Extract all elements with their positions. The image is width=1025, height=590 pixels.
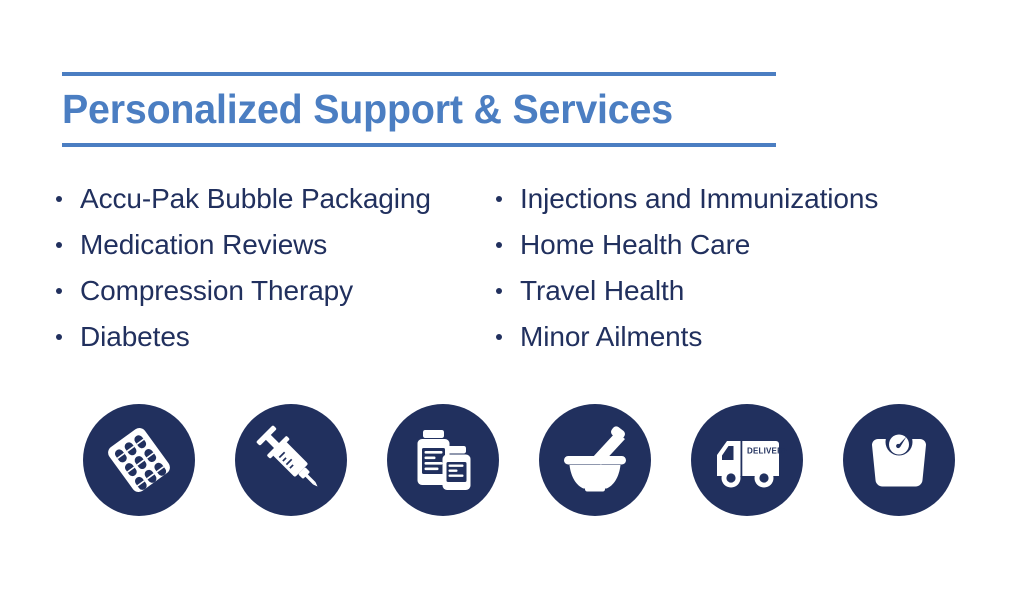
mortar-pestle-icon [539, 404, 651, 516]
list-item-label: Accu-Pak Bubble Packaging [80, 183, 431, 214]
list-item: Compression Therapy [53, 268, 493, 314]
list-item: Medication Reviews [53, 222, 493, 268]
bullet-icon [56, 334, 62, 340]
bullet-icon [496, 288, 502, 294]
bullet-icon [496, 242, 502, 248]
services-right-column: Injections and Immunizations Home Health… [493, 176, 1025, 360]
weight-scale-icon [843, 404, 955, 516]
delivery-van-icon: DELIVERY [691, 404, 803, 516]
services-list-left: Accu-Pak Bubble Packaging Medication Rev… [53, 176, 493, 360]
pill-bottles-icon [387, 404, 499, 516]
list-item: Minor Ailments [493, 314, 1025, 360]
bullet-icon [496, 196, 502, 202]
page-title: Personalized Support & Services [62, 76, 747, 143]
list-item: Diabetes [53, 314, 493, 360]
title-rule-bottom [62, 143, 776, 147]
services-lists: Accu-Pak Bubble Packaging Medication Rev… [0, 176, 1025, 360]
services-left-column: Accu-Pak Bubble Packaging Medication Rev… [0, 176, 493, 360]
list-item-label: Travel Health [520, 275, 684, 306]
syringe-icon [235, 404, 347, 516]
list-item: Home Health Care [493, 222, 1025, 268]
list-item-label: Medication Reviews [80, 229, 327, 260]
page-title-block: Personalized Support & Services [62, 72, 776, 147]
list-item-label: Minor Ailments [520, 321, 702, 352]
list-item-label: Home Health Care [520, 229, 750, 260]
list-item-label: Injections and Immunizations [520, 183, 878, 214]
list-item-label: Diabetes [80, 321, 190, 352]
bullet-icon [56, 288, 62, 294]
list-item: Accu-Pak Bubble Packaging [53, 176, 493, 222]
slide-canvas: Personalized Support & Services Accu-Pak… [0, 0, 1025, 590]
bullet-icon [56, 242, 62, 248]
bullet-icon [496, 334, 502, 340]
service-icon-row: DELIVERY [0, 404, 1025, 516]
services-list-right: Injections and Immunizations Home Health… [493, 176, 1025, 360]
van-side-text: DELIVERY [747, 447, 787, 456]
list-item: Travel Health [493, 268, 1025, 314]
list-item-label: Compression Therapy [80, 275, 353, 306]
list-item: Injections and Immunizations [493, 176, 1025, 222]
bullet-icon [56, 196, 62, 202]
blister-pack-icon [83, 404, 195, 516]
